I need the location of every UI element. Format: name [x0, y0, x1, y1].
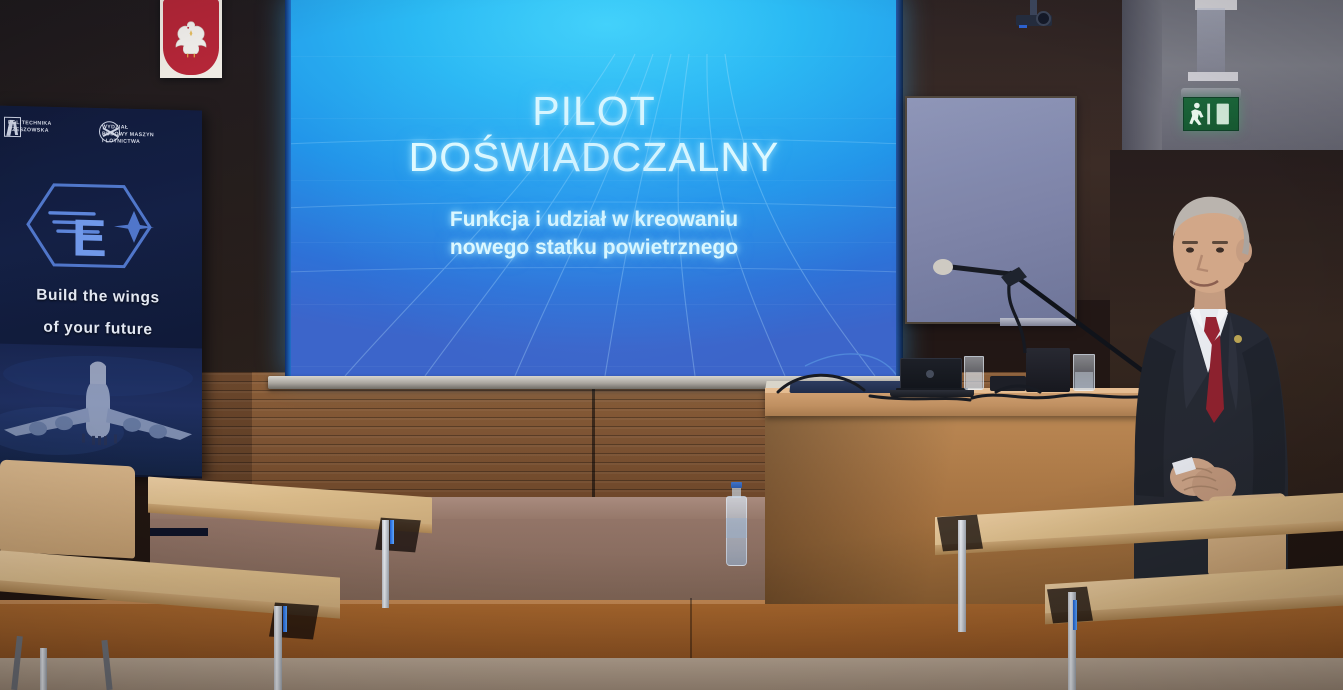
- slide-scanline-bands: [285, 0, 903, 376]
- right-wall-shadow: [1122, 0, 1162, 165]
- exit-sign: [1183, 97, 1239, 131]
- ceiling-light-panel: [1197, 8, 1225, 72]
- mic-cable: [1009, 285, 1025, 353]
- banner-slogan-line2: of your future: [0, 317, 202, 340]
- banner-logo-right-text: WYDZIAŁBUDOWY MASZYNI LOTNICTWA: [102, 124, 154, 146]
- banner-aircraft-photo: [0, 343, 202, 476]
- svg-text:E: E: [72, 209, 107, 268]
- coat-of-arms-shield: [163, 0, 219, 75]
- water-bottle: [726, 482, 747, 566]
- hexagon-e-cross-emblem-icon: E: [16, 178, 180, 274]
- microphone-head-icon: [933, 259, 953, 275]
- table-leg: [382, 520, 389, 608]
- lapel-pin-icon: [1234, 335, 1242, 343]
- slide-title-line2: DOŚWIADCZALNY: [285, 134, 903, 180]
- slide-title: PILOT DOŚWIADCZALNY: [285, 88, 903, 181]
- table-leg: [40, 648, 47, 690]
- running-man-icon: [1184, 98, 1238, 130]
- slide-title-line1: PILOT: [285, 88, 903, 134]
- slide-subtitle: Funkcja i udział w kreowaniu nowego stat…: [285, 206, 903, 263]
- slide-surface: PILOT DOŚWIADCZALNY Funkcja i udział w k…: [285, 0, 903, 376]
- banner-emblem: E: [16, 178, 180, 274]
- slide-subtitle-line2: nowego statku powietrznego: [285, 234, 903, 262]
- airplane-icon: [0, 343, 202, 476]
- bottle-neck: [732, 487, 741, 498]
- table-accent-light: [283, 606, 287, 632]
- banner-logo-left-text: POLITECHNIKARZESZOWSKA: [8, 120, 52, 135]
- roll-up-banner: POLITECHNIKARZESZOWSKA WYDZIAŁBUDOWY MAS…: [0, 105, 202, 478]
- bottle-cap: [731, 482, 742, 488]
- coat-of-arms-frame: [160, 0, 222, 78]
- bottle-label: [726, 518, 747, 538]
- screen-right-edge: [896, 0, 903, 376]
- slat-panel-seam: [592, 380, 595, 508]
- table-accent-light: [1073, 600, 1077, 630]
- camera-lens-icon: [1036, 11, 1051, 26]
- camera-mount: [1030, 0, 1037, 16]
- table-leg: [274, 606, 282, 690]
- slide-subtitle-line1: Funkcja i udział w kreowaniu: [285, 206, 903, 234]
- camera-led-indicator: [1019, 25, 1027, 28]
- chair: [0, 459, 135, 558]
- lecture-hall-scene: PILOT DOŚWIADCZALNY Funkcja i udział w k…: [0, 0, 1343, 690]
- stage-riser-seam: [690, 598, 692, 662]
- screen-left-edge: [285, 0, 291, 376]
- banner-slogan-line1: Build the wings: [0, 285, 202, 308]
- ceiling-light-strip-lower: [1188, 72, 1238, 81]
- projection-screen: PILOT DOŚWIADCZALNY Funkcja i udział w k…: [285, 0, 903, 376]
- banner-bottom-strip: [150, 528, 208, 536]
- table-leg: [958, 520, 966, 632]
- table-accent-light: [390, 520, 394, 544]
- white-eagle-icon: [167, 8, 214, 72]
- floor: [0, 658, 1343, 690]
